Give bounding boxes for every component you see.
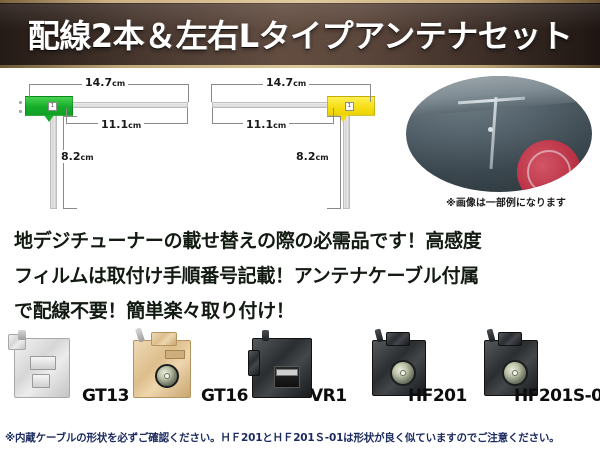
connector-item-vr1: VR1	[248, 328, 360, 424]
header-banner: 配線2本＆左右Lタイプアンテナセット	[0, 0, 600, 68]
connector-label-gt16: GT16	[201, 386, 248, 406]
photo-caption: ※画像は一部例になります	[418, 194, 594, 209]
connector-label-hf201: HF201	[408, 386, 467, 406]
gt16-coax-face	[155, 364, 179, 388]
hf201s01-coax-face	[502, 360, 528, 386]
left-dim-vert-label: 8.2cm	[58, 150, 97, 163]
gt16-latch	[151, 332, 177, 346]
gt16-keyway	[165, 350, 185, 359]
left-connector-foot	[44, 115, 54, 122]
connector-label-vr1: VR1	[310, 386, 347, 406]
hf201-latch	[386, 332, 410, 346]
connector-type-strip: GT13 GT16 VR1	[0, 328, 600, 424]
right-dim-mid-label: 11.1cm	[243, 118, 289, 131]
banner-title: 配線2本＆左右Lタイプアンテナセット	[0, 0, 600, 68]
connector-label-hf201s01: HF201S-01	[514, 386, 600, 406]
photo-antenna-node	[488, 127, 493, 132]
gt13-face-upper	[30, 356, 56, 370]
connector-item-hf201: HF201	[366, 328, 474, 424]
connector-item-gt13: GT13	[8, 328, 120, 424]
right-dim-vert-label: 8.2cm	[293, 150, 332, 163]
product-image: 配線2本＆左右Lタイプアンテナセット 1 14.7cm 11.1cm 8.2cm	[0, 0, 600, 450]
connector-label-gt13: GT13	[82, 386, 129, 406]
vr1-cable	[262, 330, 269, 341]
left-pin-lower	[19, 110, 22, 113]
left-dim-top-label: 14.7cm	[82, 76, 128, 89]
feature-line-3: で配線不要！簡単楽々取り付け！	[14, 296, 586, 327]
installed-antenna-photo	[406, 76, 592, 192]
feature-line-2: フィルムは取付け手順番号記載！アンテナケーブル付属	[14, 261, 586, 292]
right-dim-top-label: 14.7cm	[263, 76, 309, 89]
footer-disclaimer: ※内蔵ケーブルの形状を必ずご確認ください。ＨＦ201とＨＦ201Ｓ-01は形状が…	[0, 424, 600, 450]
left-dim-mid-label: 11.1cm	[98, 118, 144, 131]
footer-disclaimer-text: ※内蔵ケーブルの形状を必ずご確認ください。ＨＦ201とＨＦ201Ｓ-01は形状が…	[5, 430, 559, 445]
gt13-face-lower	[32, 374, 50, 388]
gt16-connector-image	[125, 332, 199, 402]
right-antenna-leg	[343, 114, 350, 209]
vr1-pin-block	[276, 369, 298, 376]
gt13-cable	[18, 330, 26, 340]
connector-item-gt16: GT16	[125, 328, 243, 424]
left-antenna-leg	[50, 114, 57, 209]
right-connector-number: 1	[345, 102, 354, 111]
gt13-connector-image	[8, 332, 80, 402]
vr1-latch	[248, 350, 260, 376]
connector-item-hf201s01: HF201S-01	[478, 328, 600, 424]
hf201-coax-face	[390, 360, 416, 386]
left-connector-number: 1	[48, 102, 57, 111]
hf201s01-latch	[498, 332, 522, 346]
photo-inspection-sticker	[517, 140, 581, 192]
left-pin-upper	[19, 101, 22, 104]
feature-text-block: 地デジチューナーの載せ替えの際の必需品です！高感度 フィルムは取付け手順番号記載…	[0, 216, 600, 328]
feature-line-1: 地デジチューナーの載せ替えの際の必需品です！高感度	[14, 226, 586, 257]
